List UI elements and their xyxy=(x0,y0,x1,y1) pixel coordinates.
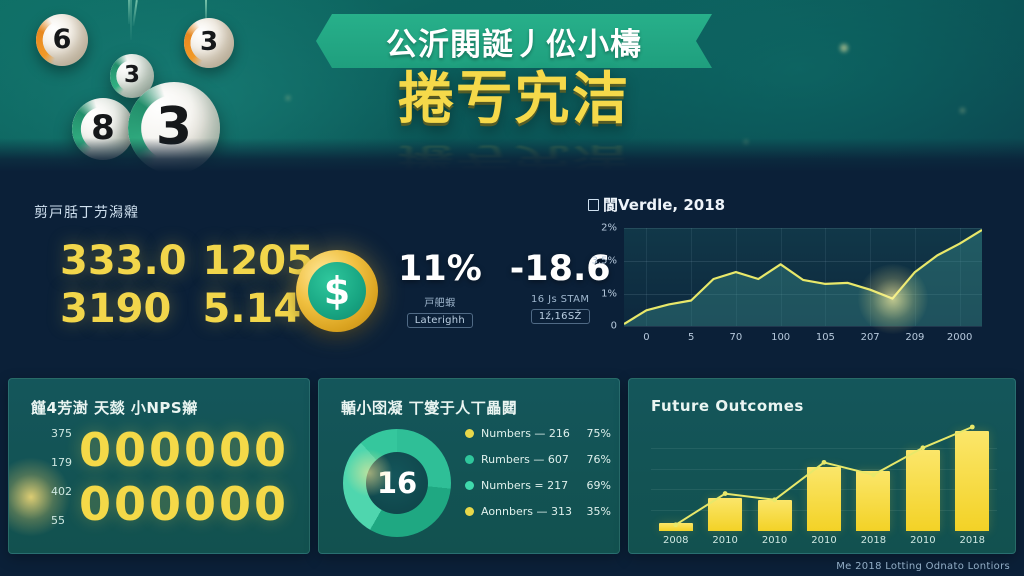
hero-ribbon: 公沂閧誕丿伀小檮 xyxy=(316,14,712,68)
legend-value: 69% xyxy=(587,479,611,492)
x-axis-tick-label: 2000 xyxy=(947,332,972,343)
zeros-digit-rows: 000000 000000 xyxy=(79,423,289,532)
footer-note: Ме 2018 Lotting Odnato Lontiors xyxy=(836,561,1010,572)
zeros-side-labels: 375 179 402 55 xyxy=(51,427,72,527)
zeros-digit-row: 000000 xyxy=(79,477,289,531)
legend-label: Numbers = 217 xyxy=(481,479,583,492)
x-axis-tick-label: 2010 xyxy=(910,535,935,546)
line-chart: 閬Verdle, 2018 01%3.5%2%05701001052072092… xyxy=(576,188,996,360)
zeros-side-label: 402 xyxy=(51,485,72,498)
legend-item: Aonnbers — 31335% xyxy=(465,505,611,518)
zeros-card-title: 饉4芳澍 天燅 小NPS辮 xyxy=(31,397,198,418)
legend-label: Aonnbers — 313 xyxy=(481,505,583,518)
sparkle-icon xyxy=(744,140,748,144)
ball-string xyxy=(132,0,138,26)
x-axis-tick-label: 2010 xyxy=(811,535,836,546)
kpi-section-label: 剪戸䏦丁芀潟䑟 xyxy=(34,202,139,222)
lottery-ball-3-orange: 3 xyxy=(184,18,234,68)
kpi-value: 3190 xyxy=(60,288,187,330)
zeros-side-label: 55 xyxy=(51,514,72,527)
hero-banner: 6 3 3 8 3 公沂閧誕丿伀小檮 捲亐宄洁 捲亐宄洁 xyxy=(0,0,1024,172)
gridline xyxy=(624,326,982,327)
cards-row: 饉4芳澍 天燅 小NPS辮 375 179 402 55 000000 0000… xyxy=(0,372,1024,576)
legend-value: 76% xyxy=(587,453,611,466)
lottery-ball-8: 8 xyxy=(72,98,134,160)
x-axis-tick-label: 209 xyxy=(905,332,924,343)
legend-color-dot xyxy=(465,507,474,516)
metric-chip: Laterighh xyxy=(407,313,473,328)
hero-headline-reflection: 捲亐宄洁 xyxy=(316,143,712,168)
ball-number: 3 xyxy=(200,27,218,57)
x-axis-tick-label: 207 xyxy=(861,332,880,343)
bars-card-title: Future Outcomes xyxy=(651,397,804,415)
legend-value: 35% xyxy=(587,505,611,518)
y-axis-tick-label: 0 xyxy=(611,321,617,332)
legend-item: Numbers = 21769% xyxy=(465,479,611,492)
ball-number: 3 xyxy=(156,97,192,157)
bar-chart-plot: 2008201020102010201820102018 xyxy=(651,427,997,531)
zeros-digit-row: 000000 xyxy=(79,423,289,477)
x-axis-tick-label: 70 xyxy=(730,332,743,343)
zeros-card: 饉4芳澍 天燅 小NPS辮 375 179 402 55 000000 0000… xyxy=(8,378,310,554)
kpi-number-grid: 333.0 1205 3190 5.14 xyxy=(60,240,280,330)
y-axis-tick-label: 1% xyxy=(601,288,617,299)
line-series xyxy=(624,228,982,326)
legend-value: 75% xyxy=(587,427,611,440)
line-chart-title-text: 閬Verdle, 2018 xyxy=(603,196,725,214)
kpi-value: 1205 xyxy=(203,240,314,282)
x-axis-tick-label: 2008 xyxy=(663,535,688,546)
sparkle-icon xyxy=(960,108,965,113)
zeros-side-label: 375 xyxy=(51,427,72,440)
legend-color-dot xyxy=(465,481,474,490)
ball-string xyxy=(130,0,132,40)
sparkle-icon xyxy=(286,96,290,100)
x-axis-tick-label: 2018 xyxy=(861,535,886,546)
glow-decoration xyxy=(345,449,393,497)
lottery-ball-3-large: 3 xyxy=(128,82,220,172)
y-axis-tick-label: 2% xyxy=(601,223,617,234)
legend-label: Rumbers — 607 xyxy=(481,453,583,466)
legend-label: Numbers — 216 xyxy=(481,427,583,440)
chart-icon xyxy=(588,199,599,211)
ball-number: 6 xyxy=(53,24,72,55)
legend-item: Rumbers — 60776% xyxy=(465,453,611,466)
lottery-ball-6: 6 xyxy=(36,14,88,66)
donut-legend: Numbers — 21675%Rumbers — 60776%Numbers … xyxy=(465,427,611,531)
donut-card-title: 輴小囹凝 丅燮于人丅畾閮 xyxy=(341,397,517,418)
ball-number: 8 xyxy=(91,108,115,148)
line-chart-plot: 01%3.5%2%05701001052072092000 xyxy=(624,228,982,326)
sparkle-icon xyxy=(840,44,848,52)
hero-ribbon-text: 公沂閧誕丿伀小檮 xyxy=(386,19,642,64)
line-chart-title: 閬Verdle, 2018 xyxy=(588,194,725,215)
dollar-sign: $ xyxy=(308,262,366,320)
donut-card: 輴小囹凝 丅燮于人丅畾閮 16 Numbers — 21675%Rumbers … xyxy=(318,378,620,554)
x-axis-tick-label: 2010 xyxy=(712,535,737,546)
hero-headline: 捲亐宄洁 xyxy=(316,72,712,128)
legend-item: Numbers — 21675% xyxy=(465,427,611,440)
ball-number: 3 xyxy=(124,62,140,88)
legend-color-dot xyxy=(465,455,474,464)
x-axis-tick-label: 2018 xyxy=(960,535,985,546)
metric-value: 11% xyxy=(398,252,482,287)
kpi-value: 333.0 xyxy=(60,240,187,282)
overlay-line-series xyxy=(651,427,997,531)
metric-item: 11% 戸舥蝦 Laterighh xyxy=(398,252,482,328)
bars-card: Future Outcomes 200820102010201020182010… xyxy=(628,378,1016,554)
y-axis-tick-label: 3.5% xyxy=(592,256,617,267)
zeros-side-label: 179 xyxy=(51,456,72,469)
x-axis-tick-label: 100 xyxy=(771,332,790,343)
x-axis-tick-label: 2010 xyxy=(762,535,787,546)
x-axis-tick-label: 5 xyxy=(688,332,694,343)
dollar-coin-icon: $ xyxy=(296,250,378,332)
legend-color-dot xyxy=(465,429,474,438)
x-axis-tick-label: 0 xyxy=(643,332,649,343)
metric-sublabel: 戸舥蝦 xyxy=(424,294,455,309)
x-axis-tick-label: 105 xyxy=(816,332,835,343)
